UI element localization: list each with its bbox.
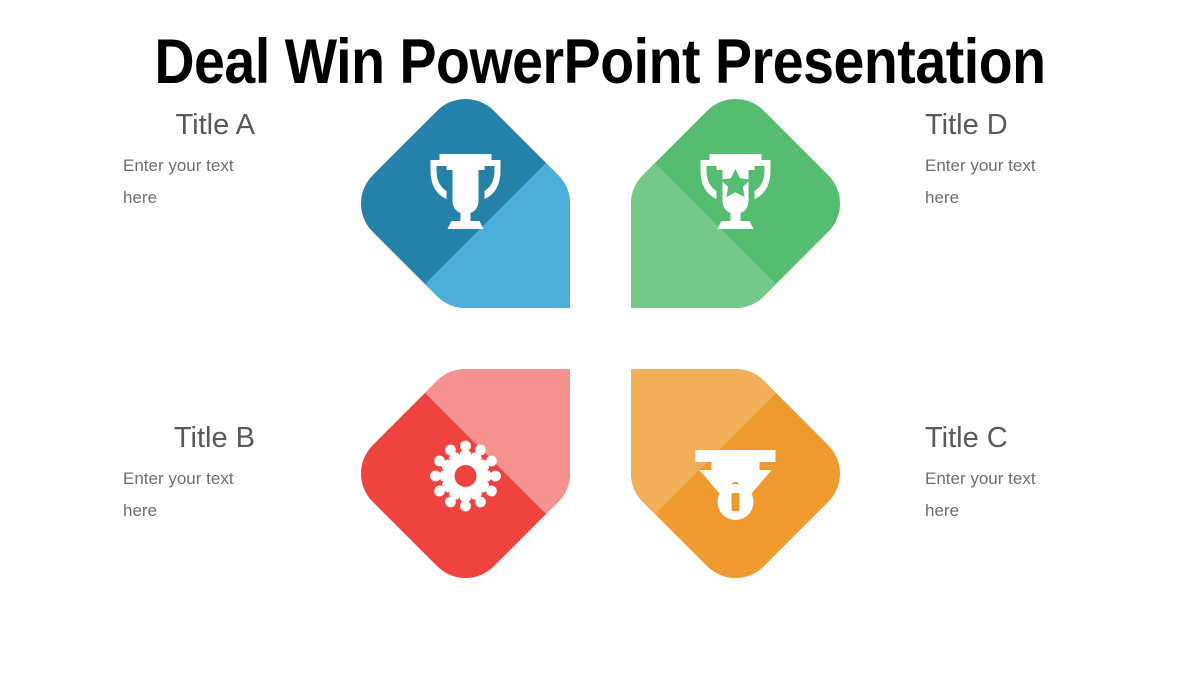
text-block-title-c[interactable]: Title C Enter your text here: [925, 421, 1155, 527]
shape-card-c[interactable]: [628, 366, 843, 581]
block-body-b: Enter your text here: [123, 463, 263, 527]
block-title-d: Title D: [925, 108, 1155, 142]
slide-canvas: Deal Win PowerPoint Presentation Title A…: [0, 0, 1200, 675]
block-body-c: Enter your text here: [925, 463, 1065, 527]
page-title: Deal Win PowerPoint Presentation: [72, 24, 1128, 100]
block-title-c: Title C: [925, 421, 1155, 455]
network-hub: [455, 465, 477, 487]
block-title-b: Title B: [25, 421, 255, 455]
block-body-a: Enter your text here: [123, 150, 263, 214]
shape-card-b[interactable]: [358, 366, 573, 581]
block-body-d: Enter your text here: [925, 150, 1065, 214]
medal-center: [732, 493, 740, 511]
text-block-title-d[interactable]: Title D Enter your text here: [925, 108, 1155, 214]
block-title-a: Title A: [25, 108, 255, 142]
shape-card-a[interactable]: [358, 96, 573, 311]
text-block-title-a[interactable]: Title A Enter your text here: [25, 108, 255, 214]
shape-card-d[interactable]: [628, 96, 843, 311]
text-block-title-b[interactable]: Title B Enter your text here: [25, 421, 255, 527]
